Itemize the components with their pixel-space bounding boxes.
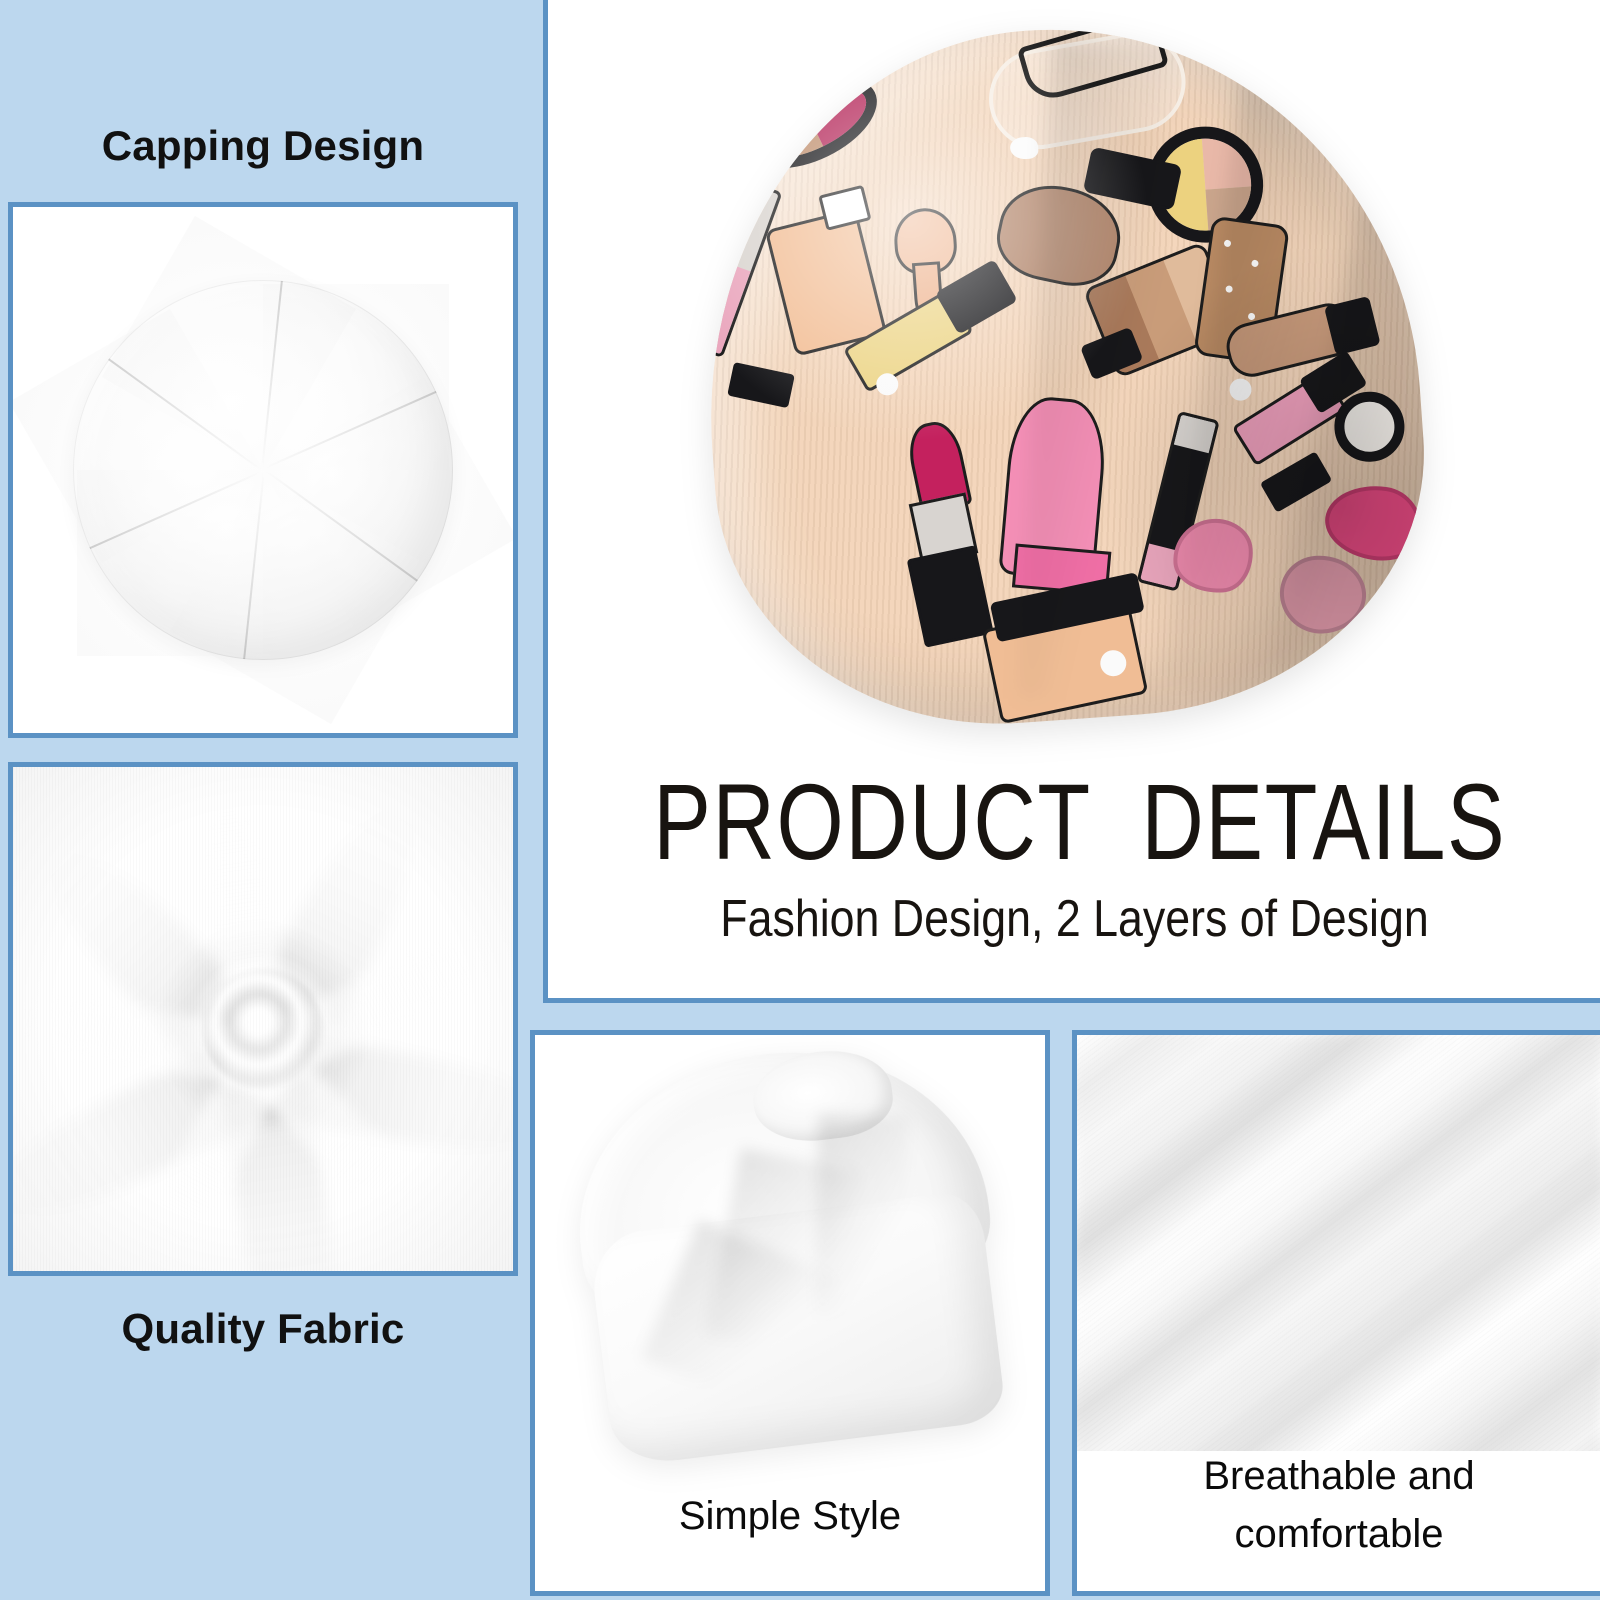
swirled-fabric-image [13, 767, 513, 1271]
product-hero-image [548, 0, 1600, 739]
breathable-caption-line1: Breathable and [1077, 1454, 1600, 1499]
page-subtitle: Fashion Design, 2 Layers of Design [622, 889, 1528, 949]
makeup-pattern-beanie [708, 29, 1418, 719]
cap-top-view-image [73, 280, 453, 660]
draped-fabric-image [1077, 1035, 1600, 1465]
capping-design-panel [8, 202, 518, 738]
product-detail-infographic: Capping Design [0, 0, 1600, 1600]
page-title: PRODUCT DETAILS [653, 759, 1495, 884]
hero-panel: PRODUCT DETAILS Fashion Design, 2 Layers… [543, 0, 1600, 1003]
simple-style-caption: Simple Style [535, 1494, 1045, 1539]
quality-fabric-caption: Quality Fabric [8, 1305, 518, 1353]
simple-style-beanie-image [560, 1030, 1016, 1476]
simple-style-panel: Simple Style [530, 1030, 1050, 1596]
breathable-comfortable-panel: Breathable and comfortable [1072, 1030, 1600, 1596]
capping-design-heading: Capping Design [8, 122, 518, 170]
breathable-caption-line2: comfortable [1077, 1512, 1600, 1557]
quality-fabric-panel [8, 762, 518, 1276]
